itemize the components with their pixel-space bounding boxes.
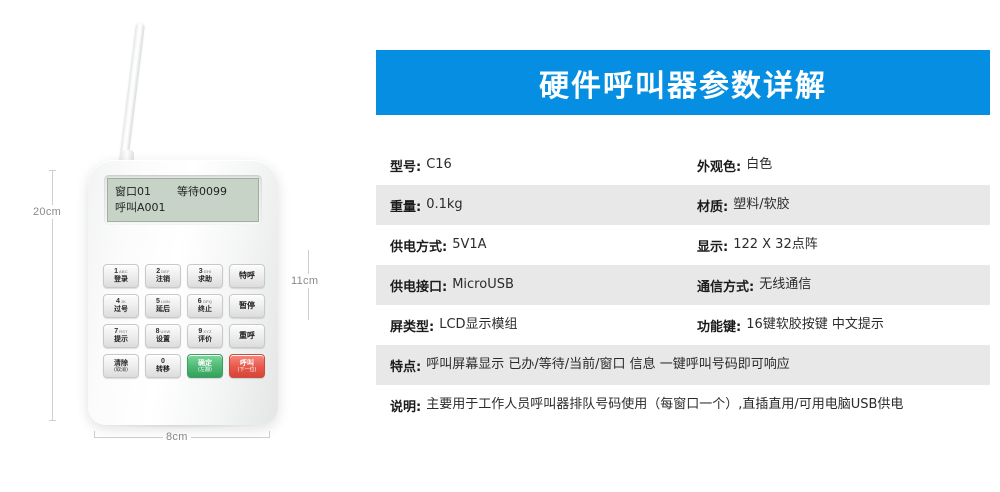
key-label: 过号 — [114, 305, 128, 313]
width-dimension-label: 8cm — [163, 430, 191, 444]
spec-cell: 重量:0.1kg — [390, 185, 697, 225]
height-dimension-cap-bottom — [49, 420, 56, 421]
spec-key: 显示: — [697, 236, 728, 255]
key-label: 设置 — [156, 335, 170, 343]
key-确定[interactable]: 确定(左翻) — [187, 354, 223, 378]
spec-row: 重量:0.1kg材质:塑料/软胶 — [376, 185, 990, 225]
key-评价[interactable]: 9XYZ评价 — [187, 324, 223, 348]
key-label: 重呼 — [239, 332, 255, 340]
spec-cell: 屏类型:LCD显示模组 — [390, 305, 697, 345]
spec-row: 供电方式:5V1A显示:122 X 32点阵 — [376, 225, 990, 265]
product-image-panel: 20cm 11cm 8cm 窗口01 等待0099 呼叫A001 1ABC登录2… — [0, 0, 360, 492]
spec-value: 呼叫屏幕显示 已办/等待/当前/窗口 信息 一键呼叫号码即可响应 — [426, 356, 790, 373]
key-设置[interactable]: 8UVW设置 — [145, 324, 181, 348]
key-label: 求助 — [198, 275, 212, 283]
spec-key: 外观色: — [697, 156, 741, 175]
spec-cell: 供电接口:MicroUSB — [390, 265, 697, 305]
spec-table: 型号:C16外观色:白色重量:0.1kg材质:塑料/软胶供电方式:5V1A显示:… — [376, 145, 990, 425]
key-sublabel: (取消) — [114, 367, 128, 373]
lcd-waiting-label: 等待0099 — [177, 186, 227, 198]
spec-key: 通信方式: — [697, 276, 754, 295]
spec-cell: 型号:C16 — [390, 145, 697, 185]
spec-value: 主要用于工作人员呼叫器排队号码使用（每窗口一个）,直插直用/可用电脑USB供电 — [426, 396, 903, 413]
spec-value: C16 — [426, 156, 452, 173]
spec-banner: 硬件呼叫器参数详解 — [376, 50, 990, 115]
key-呼叫[interactable]: 呼叫(下一位) — [229, 354, 265, 378]
antenna — [118, 23, 145, 171]
height-dimension-cap-top — [49, 170, 56, 171]
key-label: 清除 — [114, 359, 128, 367]
lcd-screen: 窗口01 等待0099 呼叫A001 — [107, 178, 259, 222]
spec-row: 型号:C16外观色:白色 — [376, 145, 990, 185]
key-label: 特呼 — [239, 272, 255, 280]
key-清除[interactable]: 清除(取消) — [103, 354, 139, 378]
spec-cell: 材质:塑料/软胶 — [697, 185, 990, 225]
spec-cell: 供电方式:5V1A — [390, 225, 697, 265]
spec-row: 屏类型:LCD显示模组功能键:16键软胶按键 中文提示 — [376, 305, 990, 345]
spec-key: 供电方式: — [390, 236, 447, 255]
key-label: 登录 — [114, 275, 128, 283]
spec-row: 特点:呼叫屏幕显示 已办/等待/当前/窗口 信息 一键呼叫号码即可响应 — [376, 345, 990, 385]
spec-cell: 说明:主要用于工作人员呼叫器排队号码使用（每窗口一个）,直插直用/可用电脑USB… — [390, 385, 976, 425]
lcd-line-1: 窗口01 等待0099 — [115, 186, 251, 198]
key-特呼[interactable]: 特呼 — [229, 264, 265, 288]
spec-value: MicroUSB — [452, 276, 514, 293]
spec-row: 供电接口:MicroUSB通信方式:无线通信 — [376, 265, 990, 305]
spec-key: 屏类型: — [390, 316, 434, 335]
spec-key: 功能键: — [697, 316, 741, 335]
spec-cell: 显示:122 X 32点阵 — [697, 225, 990, 265]
width-dimension-cap-right — [269, 431, 270, 438]
spec-row: 说明:主要用于工作人员呼叫器排队号码使用（每窗口一个）,直插直用/可用电脑USB… — [376, 385, 990, 425]
spec-value: 白色 — [746, 156, 772, 173]
spec-value: 0.1kg — [426, 196, 462, 213]
key-过号[interactable]: 4JK过号 — [103, 294, 139, 318]
spec-value: 16键软胶按键 中文提示 — [746, 316, 884, 333]
key-暂停[interactable]: 暂停 — [229, 294, 265, 318]
key-sublabel: (左翻) — [198, 367, 212, 373]
spec-value: 无线通信 — [759, 276, 811, 293]
key-终止[interactable]: 6OPQ终止 — [187, 294, 223, 318]
keypad: 1ABC登录2DEF注销3GHI求助特呼4JK过号5LMN延后6OPQ终止暂停7… — [103, 264, 265, 378]
spec-cell: 特点:呼叫屏幕显示 已办/等待/当前/窗口 信息 一键呼叫号码即可响应 — [390, 345, 976, 385]
key-求助[interactable]: 3GHI求助 — [187, 264, 223, 288]
spec-key: 型号: — [390, 156, 421, 175]
key-label: 确定 — [198, 359, 212, 367]
spec-cell: 外观色:白色 — [697, 145, 990, 185]
height-dimension-label: 20cm — [30, 205, 64, 219]
spec-key: 说明: — [390, 396, 421, 415]
lcd-line-2: 呼叫A001 — [115, 202, 251, 214]
key-label: 终止 — [198, 305, 212, 313]
depth-dimension-label: 11cm — [288, 274, 321, 288]
key-重呼[interactable]: 重呼 — [229, 324, 265, 348]
page-title: 硬件呼叫器参数详解 — [539, 61, 827, 105]
key-label: 暂停 — [239, 302, 255, 310]
lcd-window-label: 窗口01 — [115, 186, 177, 198]
spec-value: LCD显示模组 — [439, 316, 517, 333]
key-label: 评价 — [198, 335, 212, 343]
key-label: 延后 — [156, 305, 170, 313]
spec-cell: 通信方式:无线通信 — [697, 265, 990, 305]
spec-key: 材质: — [697, 196, 728, 215]
key-label: 提示 — [114, 335, 128, 343]
spec-key: 重量: — [390, 196, 421, 215]
spec-panel: 硬件呼叫器参数详解 型号:C16外观色:白色重量:0.1kg材质:塑料/软胶供电… — [376, 0, 990, 492]
key-提示[interactable]: 7RST提示 — [103, 324, 139, 348]
spec-value: 122 X 32点阵 — [733, 236, 818, 253]
width-dimension-cap-left — [94, 431, 95, 438]
key-注销[interactable]: 2DEF注销 — [145, 264, 181, 288]
key-转移[interactable]: 0转移 — [145, 354, 181, 378]
spec-key: 供电接口: — [390, 276, 447, 295]
key-label: 呼叫 — [240, 359, 254, 367]
key-label: 注销 — [156, 275, 170, 283]
key-延后[interactable]: 5LMN延后 — [145, 294, 181, 318]
key-label: 转移 — [156, 365, 170, 373]
spec-cell: 功能键:16键软胶按键 中文提示 — [697, 305, 990, 345]
spec-value: 5V1A — [452, 236, 486, 253]
spec-value: 塑料/软胶 — [733, 196, 789, 213]
lcd-bezel: 窗口01 等待0099 呼叫A001 — [104, 175, 262, 225]
key-sublabel: (下一位) — [238, 367, 257, 373]
key-登录[interactable]: 1ABC登录 — [103, 264, 139, 288]
spec-key: 特点: — [390, 356, 421, 375]
